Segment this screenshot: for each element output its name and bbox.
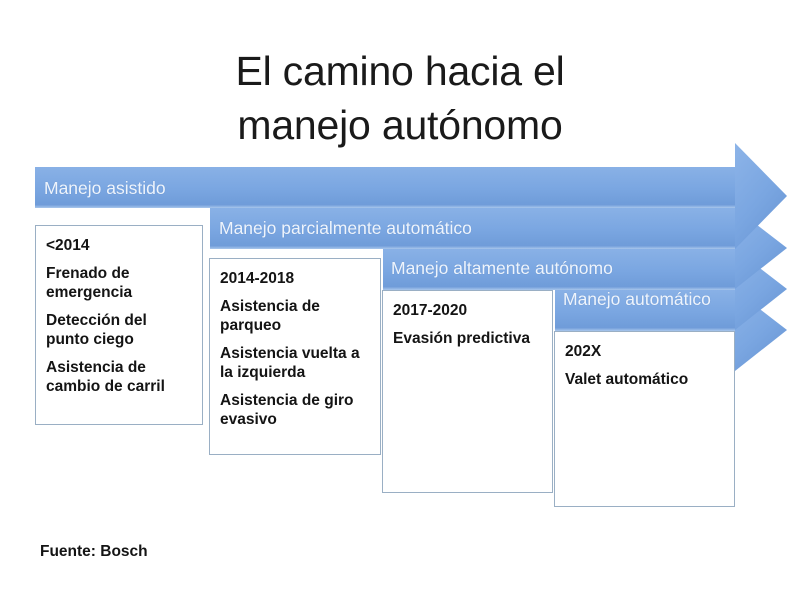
stage-1-item-1: Frenado de emergencia <box>46 264 194 302</box>
page-title: El camino hacia el manejo autónomo <box>60 44 740 152</box>
stage-1-year: <2014 <box>46 236 194 255</box>
stage-3-item-1: Evasión predictiva <box>393 329 544 348</box>
stage-2-year: 2014-2018 <box>220 269 372 288</box>
source-note: Fuente: Bosch <box>40 543 148 561</box>
stage-4-item-1: Valet automático <box>565 370 726 389</box>
stage-box-2: 2014-2018 Asistencia de parqueo Asistenc… <box>209 258 381 455</box>
stage-2-item-2: Asistencia vuelta a la izquierda <box>220 344 372 382</box>
arrow-label-manejo-asistido: Manejo asistido <box>44 177 166 199</box>
stage-1-item-2: Detección del punto ciego <box>46 311 194 349</box>
stage-2-item-3: Asistencia de giro evasivo <box>220 391 372 429</box>
stage-3-year: 2017-2020 <box>393 301 544 320</box>
stage-box-1: <2014 Frenado de emergencia Detección de… <box>35 225 203 425</box>
slide-canvas: El camino hacia el manejo autónomo <box>0 0 800 600</box>
arrow-label-manejo-automatico: Manejo automático <box>563 288 711 310</box>
stage-box-4: 202X Valet automático <box>554 331 735 507</box>
stage-1-item-3: Asistencia de cambio de carril <box>46 358 194 396</box>
stage-box-3: 2017-2020 Evasión predictiva <box>382 290 553 493</box>
arrow-label-manejo-parcialmente-automatico: Manejo parcialmente automático <box>219 217 472 239</box>
stage-4-year: 202X <box>565 342 726 361</box>
arrow-label-manejo-altamente-autonomo: Manejo altamente autónomo <box>391 257 613 279</box>
stage-2-item-1: Asistencia de parqueo <box>220 297 372 335</box>
